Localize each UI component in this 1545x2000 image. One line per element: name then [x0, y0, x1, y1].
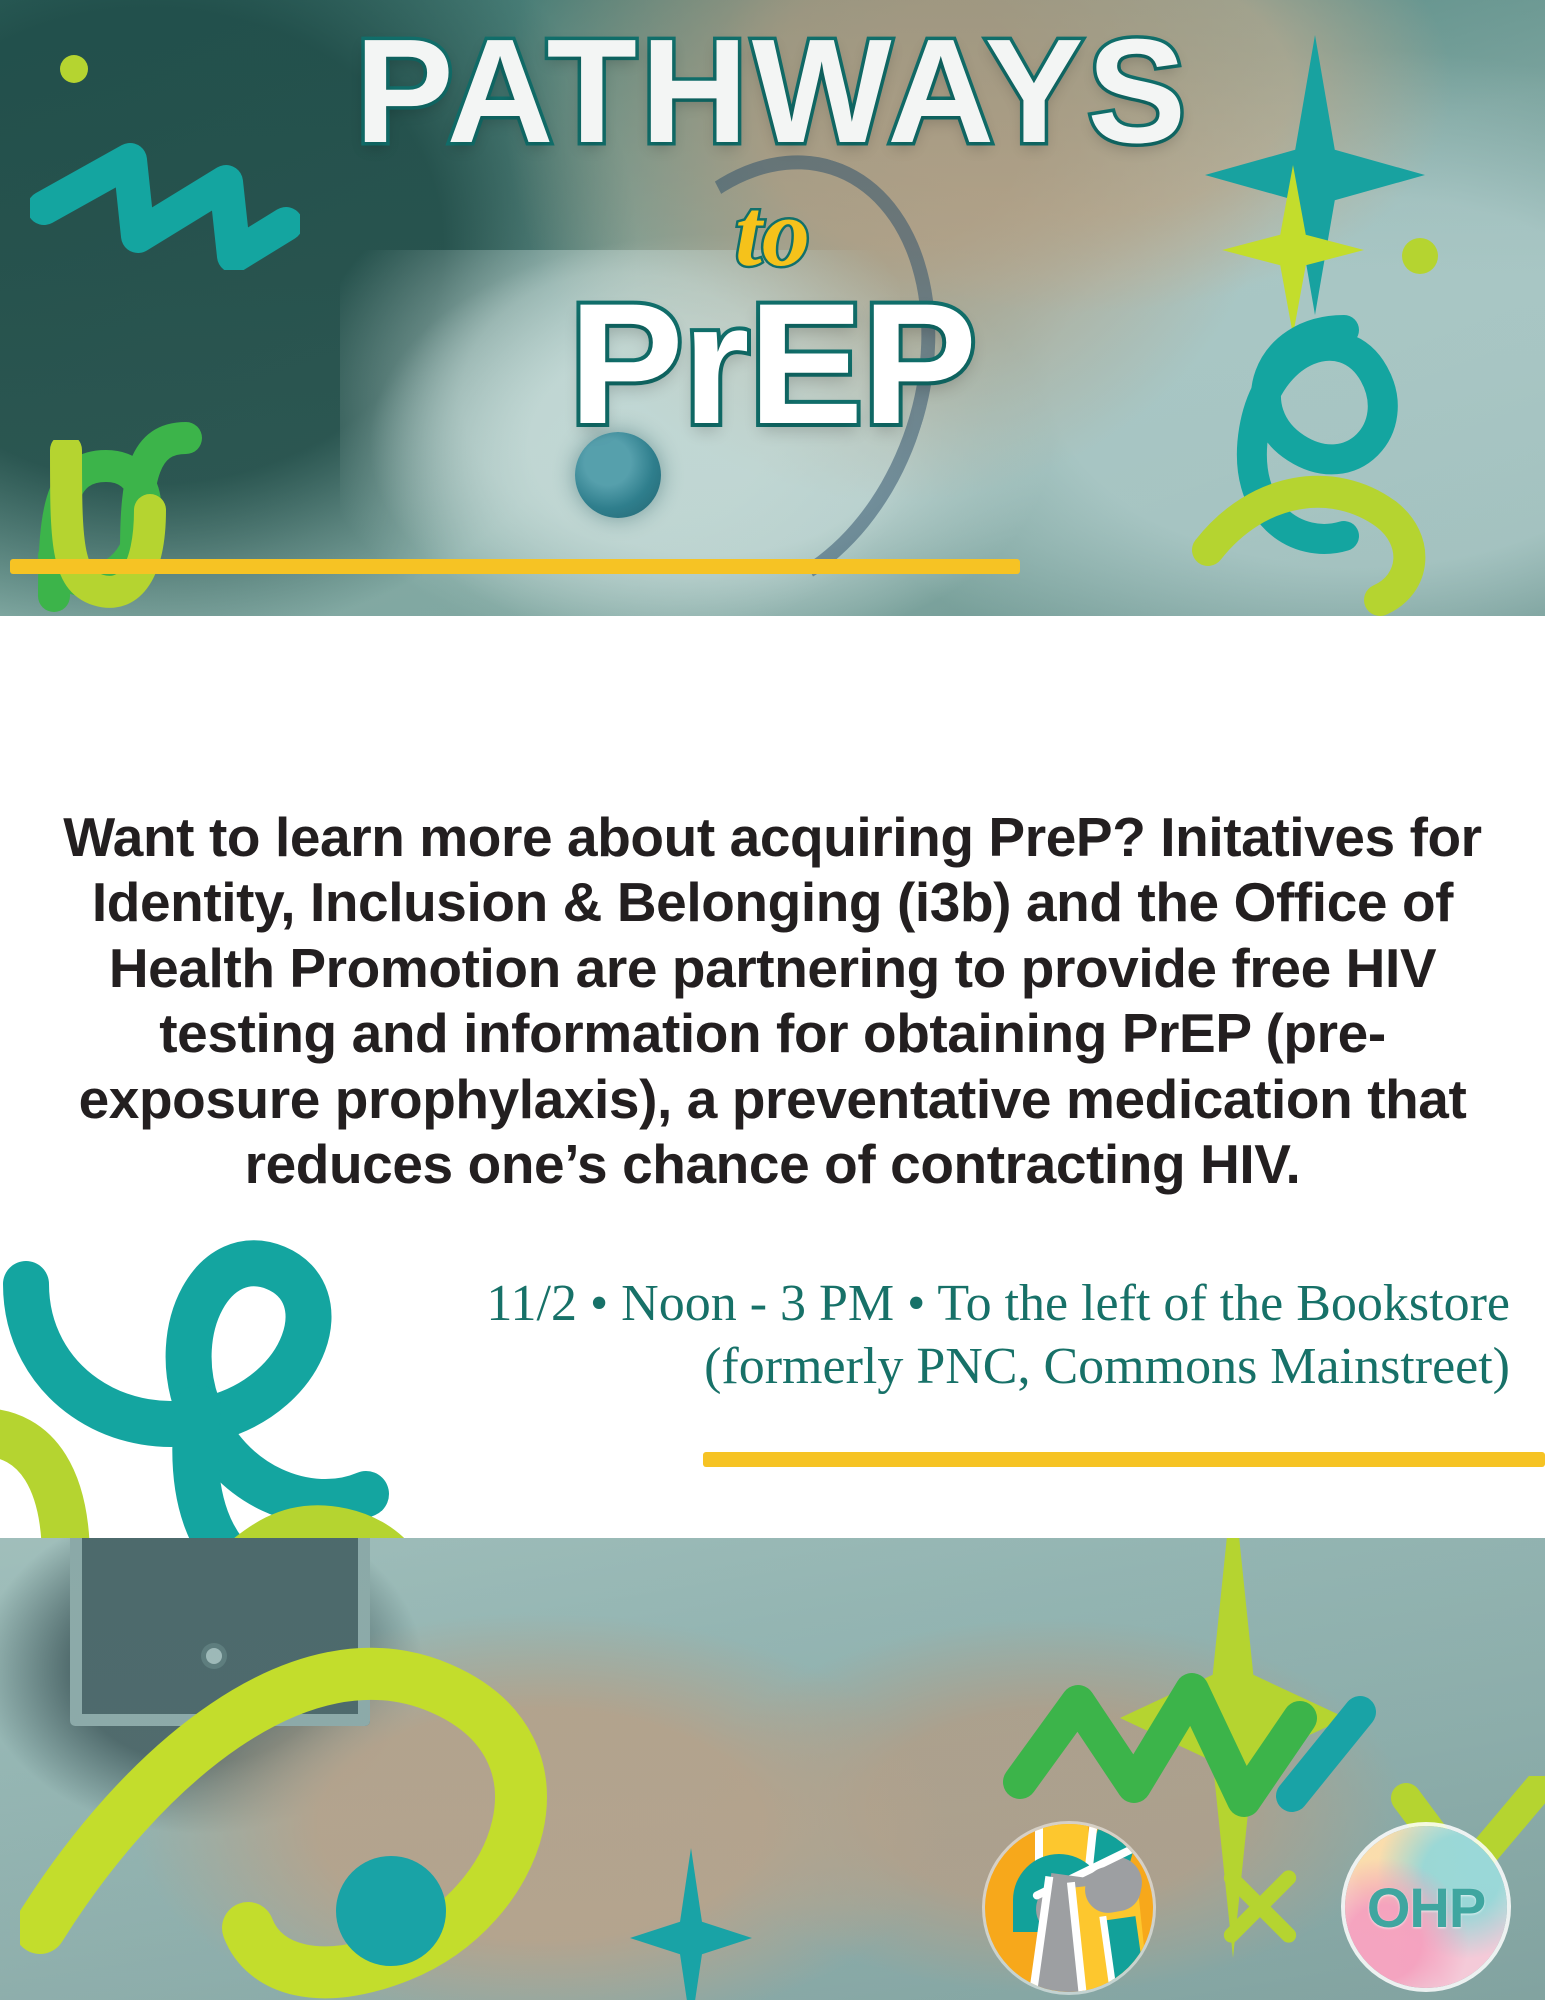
- logo-cross-icon: [1212, 1858, 1308, 1954]
- ohp-logo: OHP: [1345, 1826, 1507, 1988]
- event-divider-rule: [703, 1452, 1545, 1467]
- body-paragraph: Want to learn more about acquiring PreP?…: [40, 805, 1505, 1198]
- poster-title-connector: to: [0, 185, 1545, 281]
- i3b-logo: [985, 1824, 1153, 1992]
- event-line-secondary: (formerly PNC, Commons Mainstreet): [230, 1335, 1510, 1398]
- ohp-logo-label: OHP: [1367, 1875, 1485, 1940]
- header-divider-rule: [10, 559, 1020, 574]
- dot-teal-footer-icon: [336, 1856, 446, 1966]
- poster-canvas: PATHWAYS to PrEP Want to learn more abou…: [0, 0, 1545, 2000]
- event-line-primary: 11/2 • Noon - 3 PM • To the left of the …: [230, 1272, 1510, 1335]
- poster-title-sub: PrEP: [0, 278, 1545, 450]
- event-details: 11/2 • Noon - 3 PM • To the left of the …: [230, 1272, 1510, 1399]
- footer-photo-tint-overlay: [0, 1538, 1545, 2000]
- footer-photo-band: [0, 1538, 1545, 2000]
- poster-title-main: PATHWAYS: [0, 18, 1545, 166]
